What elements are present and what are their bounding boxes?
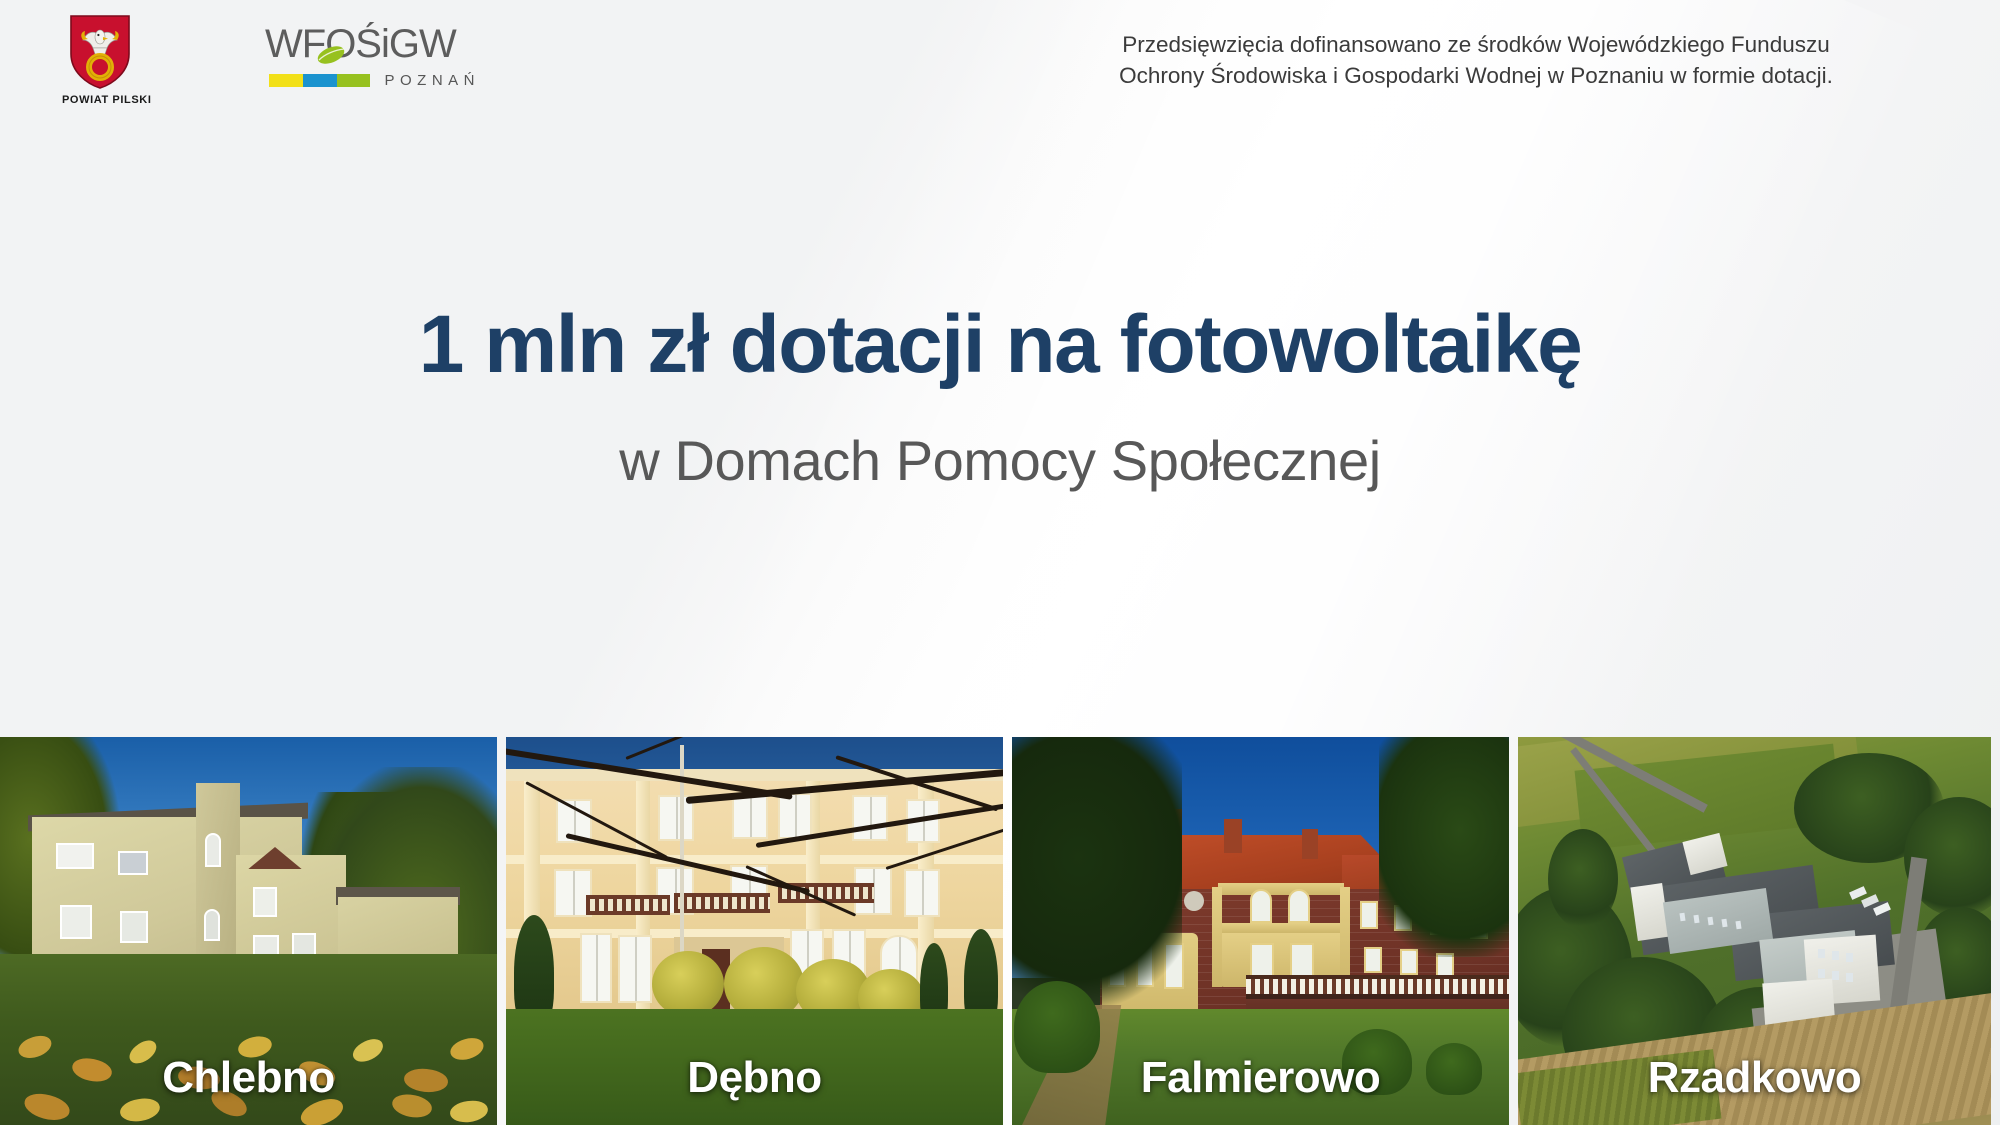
wfosigw-logo: WFOŚiGW POZNAŃ — [265, 22, 480, 89]
funding-note-line-2: Ochrony Środowiska i Gospodarki Wodnej w… — [1006, 61, 1946, 92]
yellow-bar — [269, 74, 303, 87]
page-subtitle: w Domach Pomocy Społecznej — [0, 428, 2000, 493]
slide-header: POWIAT PILSKI WFOŚiGW POZNAŃ Przedsięwzi… — [0, 0, 2000, 130]
svg-text:WFOŚiGW: WFOŚiGW — [265, 22, 457, 66]
hero-block: 1 mln zł dotacji na fotowoltaikę w Domac… — [0, 300, 2000, 493]
gallery-caption: Falmierowo — [1012, 1053, 1509, 1103]
wfosigw-city-label: POZNAŃ — [384, 72, 480, 89]
photo-gallery: Chlebno — [0, 737, 2000, 1125]
gallery-caption: Dębno — [506, 1053, 1003, 1103]
presentation-slide: POWIAT PILSKI WFOŚiGW POZNAŃ Przedsięwzi… — [0, 0, 2000, 1125]
powiat-pilski-label: POWIAT PILSKI — [62, 94, 138, 106]
blue-bar — [303, 74, 337, 87]
gallery-caption: Chlebno — [0, 1053, 497, 1103]
wfosigw-color-bars: POZNAŃ — [265, 72, 480, 89]
funding-note: Przedsięwzięcia dofinansowano ze środków… — [1006, 30, 1946, 91]
green-bar — [337, 74, 371, 87]
gallery-caption: Rzadkowo — [1518, 1053, 1991, 1103]
gallery-item-rzadkowo[interactable]: Rzadkowo — [1518, 737, 1991, 1125]
powiat-pilski-logo: POWIAT PILSKI — [62, 14, 138, 106]
page-title: 1 mln zł dotacji na fotowoltaikę — [0, 300, 2000, 390]
gallery-item-debno[interactable]: Dębno — [506, 737, 1003, 1125]
wfosigw-wordmark-icon: WFOŚiGW — [265, 22, 480, 68]
gallery-item-falmierowo[interactable]: Falmierowo — [1012, 737, 1509, 1125]
funding-note-line-1: Przedsięwzięcia dofinansowano ze środków… — [1006, 30, 1946, 61]
gallery-item-chlebno[interactable]: Chlebno — [0, 737, 497, 1125]
coat-of-arms-icon — [69, 14, 131, 90]
